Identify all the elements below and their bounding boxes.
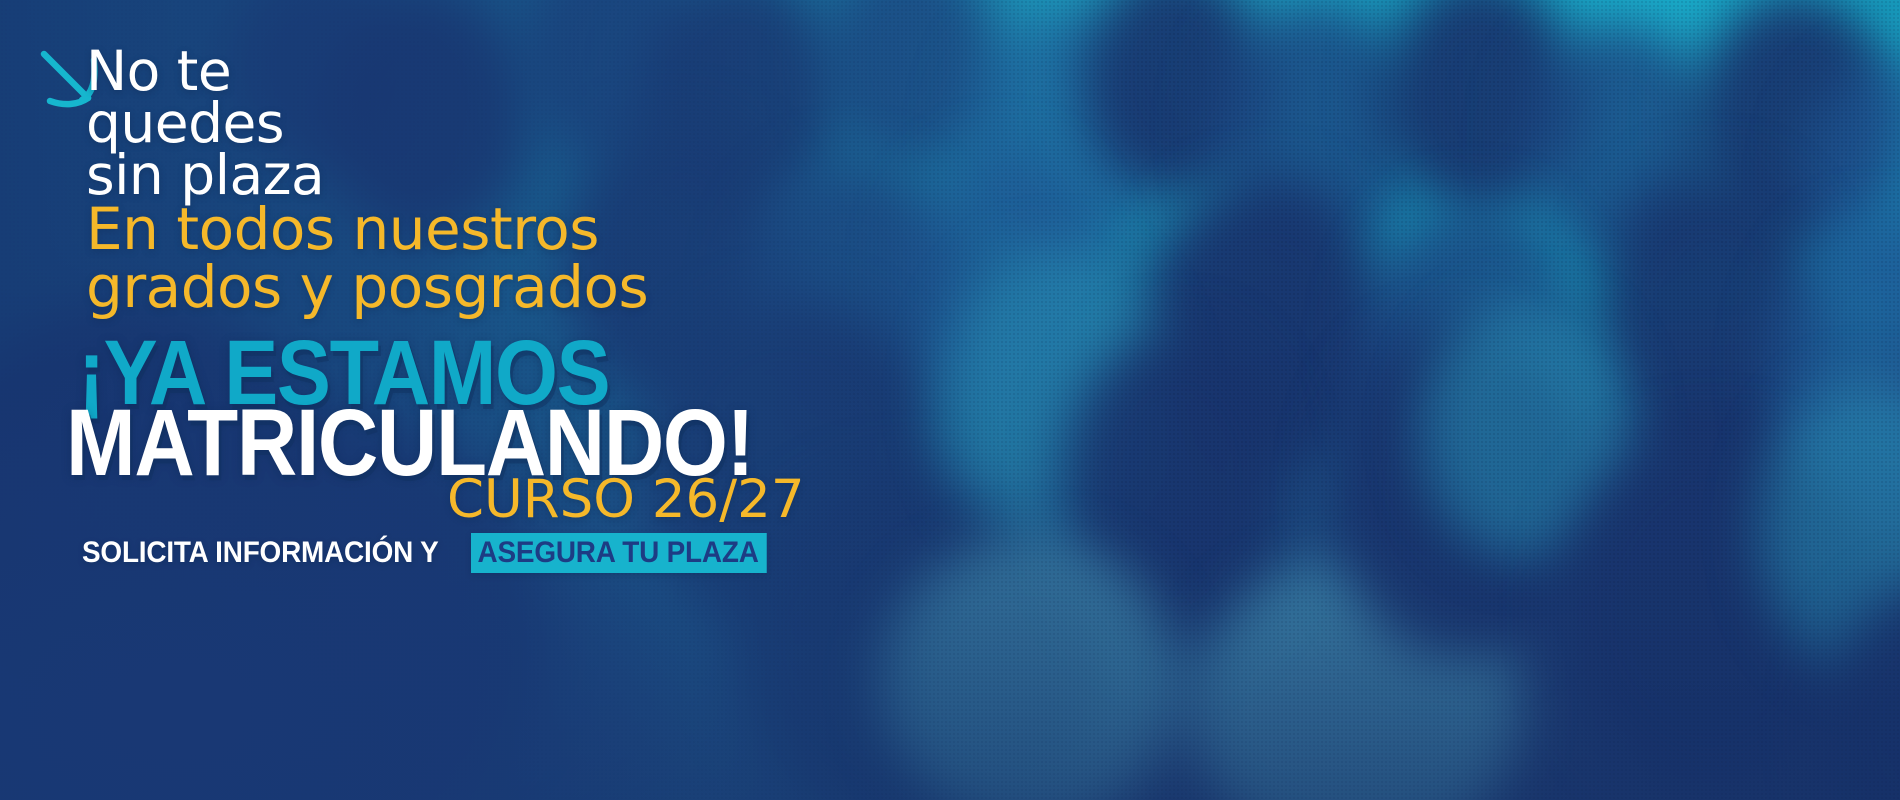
banner-copy-block: No te quedes sin plaza En todos nuestros… <box>0 0 980 800</box>
kicker-line-1: No te <box>86 45 231 97</box>
subheading-line-1: En todos nuestros <box>86 200 599 258</box>
kicker-line-3: sin plaza <box>86 149 324 201</box>
cta-line[interactable]: SOLICITA INFORMACIÓN Y ASEGURA TU PLAZA <box>82 533 790 573</box>
cta-highlight-badge[interactable]: ASEGURA TU PLAZA <box>471 533 767 573</box>
admissions-promo-banner: No te quedes sin plaza En todos nuestros… <box>0 0 1900 800</box>
kicker-line-2: quedes <box>86 97 284 149</box>
cta-prefix-text: SOLICITA INFORMACIÓN Y <box>82 533 444 573</box>
subheading-line-2: grados y posgrados <box>86 258 648 316</box>
course-year-label: CURSO 26/27 <box>447 473 805 526</box>
